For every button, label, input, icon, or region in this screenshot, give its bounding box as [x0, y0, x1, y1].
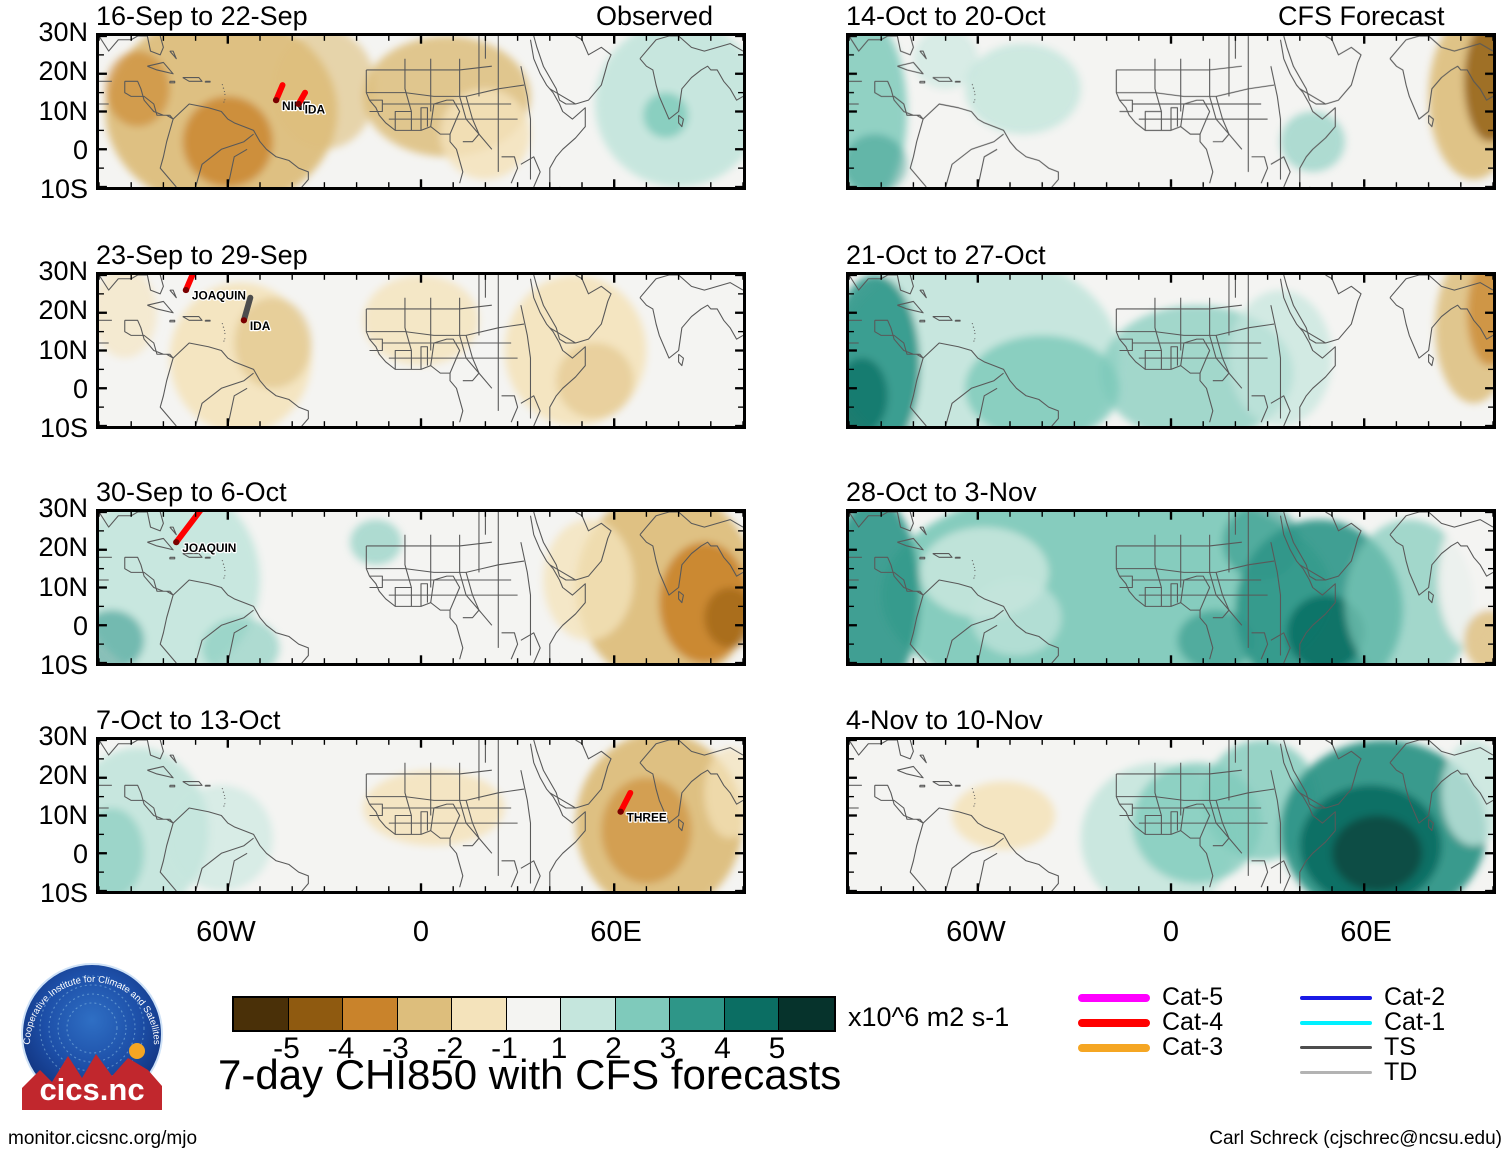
x-tick-0-left: 0	[371, 918, 471, 947]
anomaly-blob-7	[643, 93, 688, 138]
colorbar-bin-5	[507, 998, 562, 1030]
x-tick-60E-right: 60E	[1316, 918, 1416, 947]
coastline-3	[205, 557, 210, 558]
coastline-3	[955, 785, 960, 786]
coastline-7	[973, 792, 974, 793]
panel-title-cfs-1: 14-Oct to 20-Oct	[846, 3, 1046, 30]
colorbar-bin-6	[561, 998, 616, 1030]
storm-legend-left: Cat-5Cat-4Cat-3	[1078, 985, 1223, 1060]
y-tick-10N: 10N	[6, 802, 88, 829]
panel-title-obs-3: 30-Sep to 6-Oct	[96, 479, 287, 506]
storm-label-ida: IDA	[250, 320, 271, 333]
coastline-11	[224, 102, 225, 103]
legend-label-cat-1: Cat-1	[1384, 1010, 1445, 1035]
panel-title-obs-2: 23-Sep to 29-Sep	[96, 242, 308, 269]
colorbar-bin-3	[398, 998, 453, 1030]
legend-row-ts: TS	[1300, 1035, 1445, 1060]
column-header-observed: Observed	[596, 3, 713, 30]
legend-swatch-ts	[1300, 1046, 1372, 1049]
legend-label-ts: TS	[1384, 1035, 1416, 1060]
coastline-9	[225, 333, 226, 334]
coastline-11	[974, 806, 975, 807]
anomaly-blob-1	[849, 512, 920, 663]
colorbar-bin-0	[234, 998, 289, 1030]
logo-sun-icon	[129, 1043, 145, 1059]
coastline-6	[972, 323, 973, 324]
column-header-cfs-forecast: CFS Forecast	[1278, 3, 1445, 30]
map-panel-cfs-2[interactable]	[846, 272, 1496, 429]
coastline-6	[222, 788, 223, 789]
coastline-9	[975, 570, 976, 571]
legend-row-cat-3: Cat-3	[1078, 1035, 1223, 1060]
anomaly-blob-1	[183, 96, 273, 187]
footer-url[interactable]: monitor.cicsnc.org/mjo	[8, 1128, 197, 1150]
colorbar-bin-7	[616, 998, 671, 1030]
storm-label-joaquin: JOAQUIN	[192, 290, 246, 303]
coastline-6	[222, 560, 223, 561]
coastline-11	[974, 341, 975, 342]
coastline-7	[223, 792, 224, 793]
coastline-9	[225, 570, 226, 571]
storm-label-ida: IDA	[305, 104, 326, 117]
coastline-3	[205, 785, 210, 786]
y-tick-30N: 30N	[6, 19, 88, 46]
storm-origin-marker	[273, 97, 279, 103]
legend-swatch-cat-5	[1078, 994, 1150, 1002]
coastline-7	[973, 327, 974, 328]
coastline-9	[975, 94, 976, 95]
x-tick-60W-left: 60W	[176, 918, 276, 947]
footer-author: Carl Schreck (cjschrec@ncsu.edu)	[1209, 1128, 1502, 1150]
y-tick-0: 0	[6, 137, 88, 164]
colorbar-bin-2	[343, 998, 398, 1030]
panel-title-obs-1: 16-Sep to 22-Sep	[96, 3, 308, 30]
legend-row-cat-4: Cat-4	[1078, 1010, 1223, 1035]
x-tick-0-right: 0	[1121, 918, 1221, 947]
y-tick-30N: 30N	[6, 723, 88, 750]
y-tick-10N: 10N	[6, 337, 88, 364]
coastline-7	[223, 327, 224, 328]
storm-label-three: THREE	[627, 811, 667, 824]
map-panel-obs-1[interactable]: NINEIDA	[96, 33, 746, 190]
storm-legend-right: Cat-2Cat-1TSTD	[1300, 985, 1445, 1085]
colorbar-bin-8	[670, 998, 725, 1030]
y-tick-30N: 30N	[6, 495, 88, 522]
map-panel-obs-4[interactable]: THREE	[96, 737, 746, 894]
legend-swatch-cat-1	[1300, 1021, 1372, 1025]
coastline-3	[205, 81, 210, 82]
logo-wordmark: cics.nc	[39, 1072, 144, 1107]
y-tick-0: 0	[6, 613, 88, 640]
coastline-11	[224, 578, 225, 579]
coastline-9	[225, 798, 226, 799]
storm-origin-marker	[173, 539, 179, 545]
y-tick-20N: 20N	[6, 762, 88, 789]
y-tick-20N: 20N	[6, 534, 88, 561]
storm-origin-marker	[617, 809, 623, 815]
coastline-11	[974, 578, 975, 579]
coastline-6	[972, 788, 973, 789]
map-panel-cfs-3[interactable]	[846, 509, 1496, 666]
y-tick-10S: 10S	[6, 652, 88, 679]
x-tick-60E-left: 60E	[566, 918, 666, 947]
colorbar-units-label: x10^6 m2 s-1	[848, 1002, 1009, 1033]
legend-swatch-cat-4	[1078, 1019, 1150, 1027]
coastline-9	[975, 333, 976, 334]
coastline-6	[972, 84, 973, 85]
legend-label-cat-3: Cat-3	[1162, 1035, 1223, 1060]
coastline-3	[205, 320, 210, 321]
coastline-11	[974, 102, 975, 103]
coastline-11	[224, 806, 225, 807]
map-panel-cfs-4[interactable]	[846, 737, 1496, 894]
y-tick-30N: 30N	[6, 258, 88, 285]
legend-label-td: TD	[1384, 1060, 1417, 1085]
coastline-6	[222, 84, 223, 85]
y-tick-20N: 20N	[6, 297, 88, 324]
coastline-9	[975, 798, 976, 799]
y-tick-10S: 10S	[6, 880, 88, 907]
anomaly-blob-3	[350, 520, 402, 565]
y-tick-10N: 10N	[6, 574, 88, 601]
panel-title-cfs-2: 21-Oct to 27-Oct	[846, 242, 1046, 269]
storm-origin-marker	[241, 317, 247, 323]
colorbar-bin-10	[779, 998, 834, 1030]
coastline-7	[973, 88, 974, 89]
y-tick-0: 0	[6, 376, 88, 403]
panel-title-cfs-3: 28-Oct to 3-Nov	[846, 479, 1037, 506]
y-tick-20N: 20N	[6, 58, 88, 85]
coastline-6	[222, 323, 223, 324]
y-tick-10S: 10S	[6, 176, 88, 203]
anomaly-blob-6	[1332, 816, 1422, 892]
anomaly-blob-0	[952, 782, 1055, 850]
legend-swatch-td	[1300, 1071, 1372, 1074]
x-tick-60W-right: 60W	[926, 918, 1026, 947]
anomaly-blob-7	[543, 520, 633, 641]
y-tick-10S: 10S	[6, 415, 88, 442]
coastline-7	[223, 564, 224, 565]
coastline-11	[224, 341, 225, 342]
y-tick-0: 0	[6, 841, 88, 868]
coastline-3	[955, 81, 960, 82]
map-panel-obs-2[interactable]: JOAQUINIDA	[96, 272, 746, 429]
legend-row-cat-5: Cat-5	[1078, 985, 1223, 1010]
legend-label-cat-5: Cat-5	[1162, 985, 1223, 1010]
legend-label-cat-4: Cat-4	[1162, 1010, 1223, 1035]
colorbar-bin-1	[289, 998, 344, 1030]
colorbar	[232, 996, 836, 1032]
y-tick-10N: 10N	[6, 98, 88, 125]
legend-swatch-cat-2	[1300, 996, 1372, 1000]
colorbar-bin-4	[452, 998, 507, 1030]
coastline-9	[225, 94, 226, 95]
coastline-3	[955, 320, 960, 321]
figure-title: 7-day CHI850 with CFS forecasts	[218, 1052, 841, 1098]
map-panel-cfs-1[interactable]	[846, 33, 1496, 190]
colorbar-bin-9	[725, 998, 780, 1030]
cics-nc-logo[interactable]: Cooperative Institute for Climate and Sa…	[16, 958, 168, 1110]
storm-origin-marker	[295, 101, 301, 107]
anomaly-blob-2	[965, 44, 1081, 135]
storm-origin-marker	[183, 287, 189, 293]
storm-label-joaquin: JOAQUIN	[182, 542, 236, 555]
legend-label-cat-2: Cat-2	[1384, 985, 1445, 1010]
legend-row-cat-1: Cat-1	[1300, 1010, 1445, 1035]
legend-row-cat-2: Cat-2	[1300, 985, 1445, 1010]
coastline-7	[973, 564, 974, 565]
coastline-3	[955, 557, 960, 558]
coastline-6	[972, 560, 973, 561]
legend-swatch-cat-3	[1078, 1044, 1150, 1052]
panel-title-obs-4: 7-Oct to 13-Oct	[96, 707, 281, 734]
map-panel-obs-3[interactable]: JOAQUIN	[96, 509, 746, 666]
legend-row-td: TD	[1300, 1060, 1445, 1085]
anomaly-blob-5	[601, 778, 691, 884]
panel-title-cfs-4: 4-Nov to 10-Nov	[846, 707, 1043, 734]
coastline-7	[223, 88, 224, 89]
anomaly-blob-2	[170, 785, 273, 891]
